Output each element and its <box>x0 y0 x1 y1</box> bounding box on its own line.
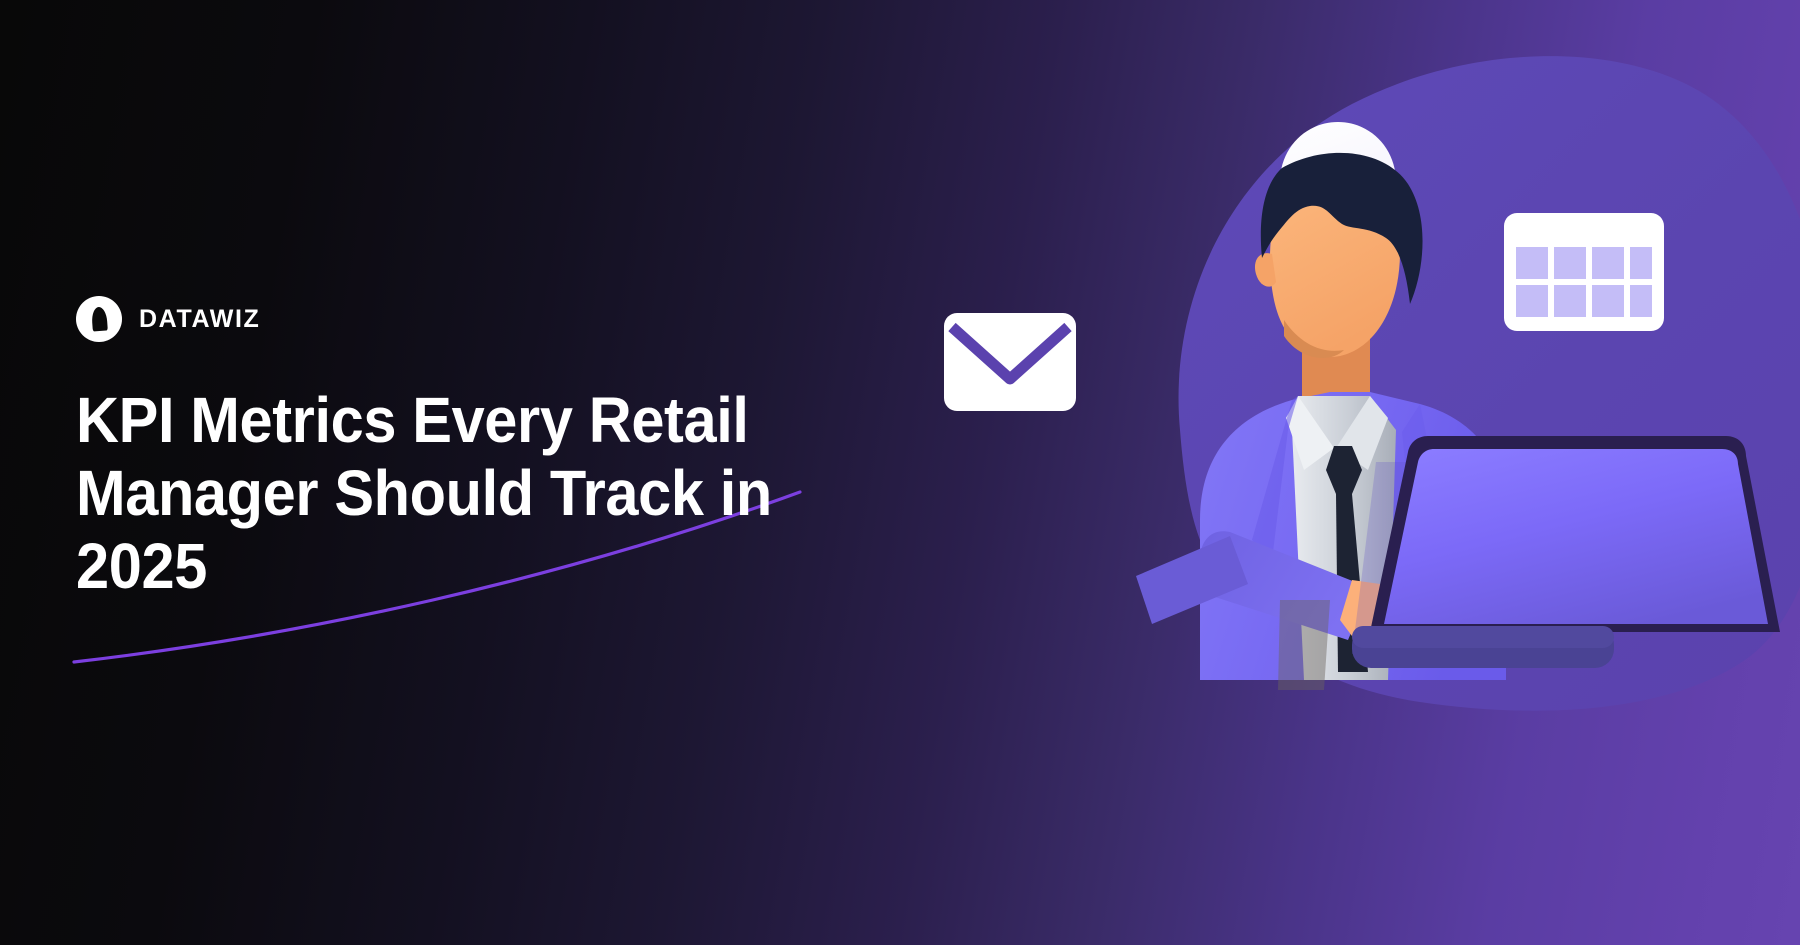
droplet-circle-icon <box>76 296 122 342</box>
businessman-at-laptop-illustration <box>900 0 1800 945</box>
header-text-block: DATAWIZ KPI Metrics Every Retail Manager… <box>76 296 876 603</box>
kpi-metrics-banner: DATAWIZ KPI Metrics Every Retail Manager… <box>0 0 1800 945</box>
brand-name: DATAWIZ <box>139 305 260 334</box>
spreadsheet-icon <box>1504 213 1664 331</box>
envelope-icon <box>944 313 1076 411</box>
brand-logo[interactable]: DATAWIZ <box>76 296 876 342</box>
page-title: KPI Metrics Every Retail Manager Should … <box>76 384 783 603</box>
